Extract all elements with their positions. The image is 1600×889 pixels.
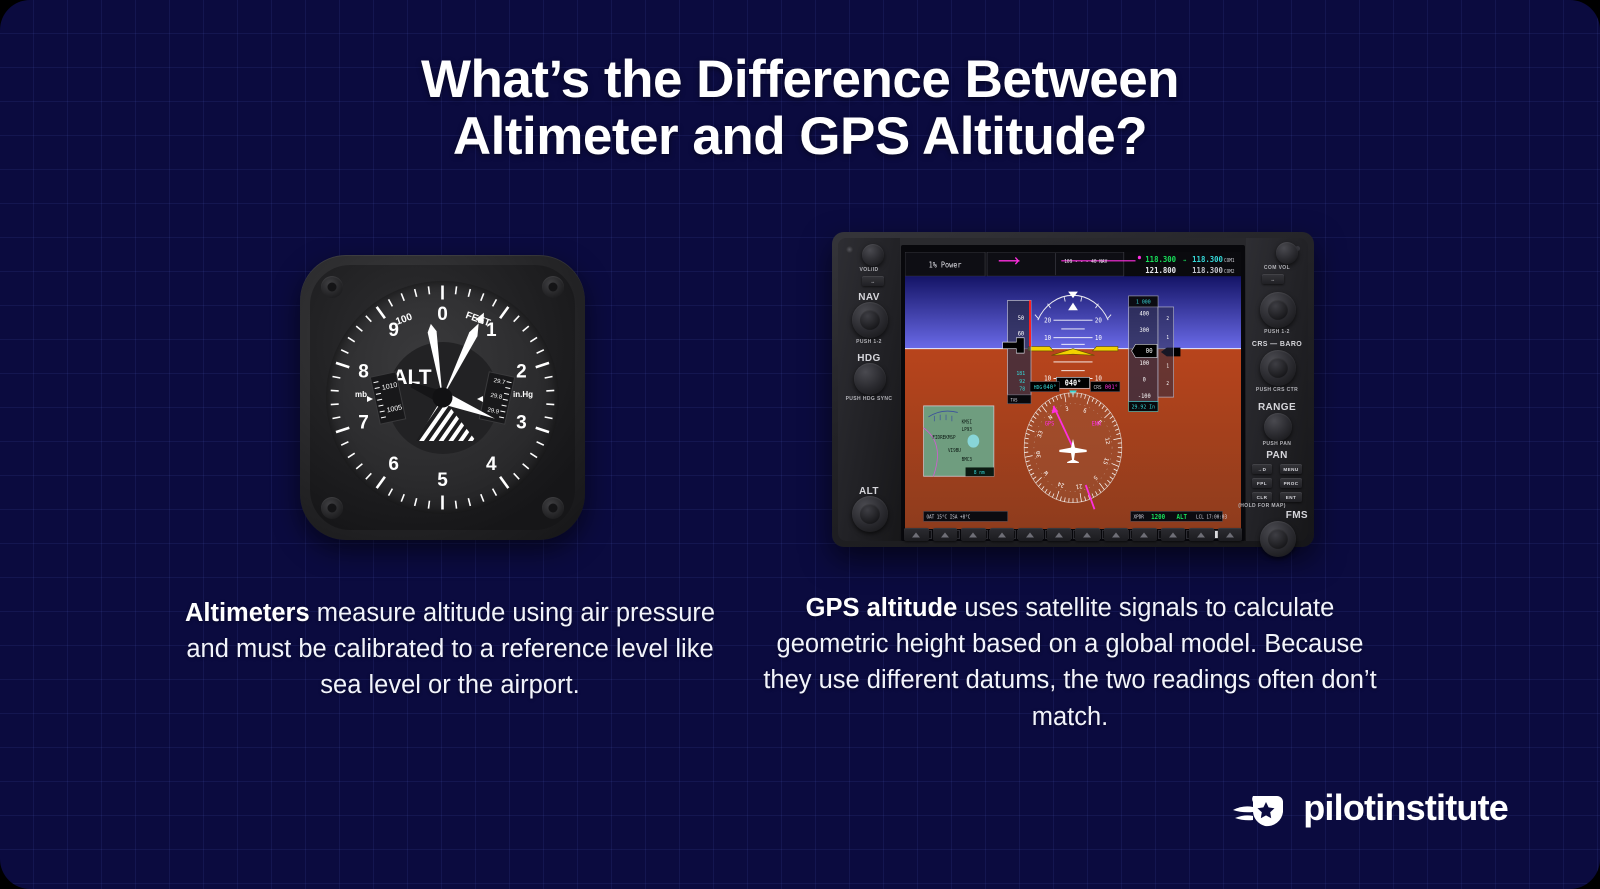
dial-minor-tick <box>530 453 537 457</box>
alt-tick-400: 400 <box>1139 312 1149 318</box>
compass-label-12: 12 <box>1103 437 1110 445</box>
dial-minor-tick <box>332 377 340 378</box>
crs-label: CRS <box>1094 385 1102 391</box>
caption-altimeter: Altimeters measure altitude using air pr… <box>180 595 720 704</box>
softkey-button[interactable] <box>933 528 958 541</box>
dial-number-3: 3 <box>516 413 527 434</box>
crs-baro-knob[interactable] <box>1260 350 1296 386</box>
garmin-display: GARMIN 1% Power 109 - - - 40 NAV 11 <box>901 245 1245 541</box>
clr-button[interactable]: CLR <box>1252 492 1272 502</box>
dial-number-8: 8 <box>358 361 369 382</box>
alt-tick-100: 100 <box>1139 361 1149 367</box>
dial-minor-tick <box>415 498 417 506</box>
nav-push-label: PUSH 1-2 <box>838 340 900 346</box>
oat-readout: OAT 15°C ISA +8°C <box>926 514 970 520</box>
dial-major-tick <box>500 307 508 318</box>
dial-minor-tick <box>546 404 554 405</box>
dial-number-6: 6 <box>388 454 399 475</box>
vsi-tick-1dn: 1 <box>1166 363 1169 369</box>
range-label: RANGE <box>1246 402 1308 413</box>
com1-tag: COM1 <box>1224 258 1235 264</box>
dial-minor-tick <box>530 337 537 341</box>
direct-to-icon[interactable]: →D <box>1252 464 1272 474</box>
frequency-swap-icon[interactable]: ↔ <box>862 276 884 286</box>
frequency-swap-icon[interactable]: ↔ <box>1262 274 1284 284</box>
softkey-button[interactable] <box>1218 528 1243 541</box>
dial-minor-tick <box>389 299 393 306</box>
dial-minor-tick <box>331 404 339 405</box>
proc-button[interactable]: PROC <box>1280 478 1302 488</box>
dial-minor-tick <box>428 501 429 509</box>
altimeter-dial-graphics: 0123456789 ALT 100 <box>326 281 559 514</box>
com-knob[interactable] <box>1260 292 1296 328</box>
dial-minor-tick <box>366 316 371 322</box>
altitude-readout: 00 <box>1146 348 1153 355</box>
dial-minor-tick <box>456 286 457 294</box>
pitch-10-left: 10 <box>1044 335 1051 342</box>
menu-button[interactable]: MENU <box>1280 464 1302 474</box>
dial-minor-tick <box>348 453 355 457</box>
inhg-pointer-icon <box>477 396 483 402</box>
power-readout: 1% Power <box>929 260 962 270</box>
mb-label: mb <box>355 390 367 399</box>
altitude-readout-box <box>1132 344 1157 357</box>
dial-minor-tick <box>537 442 544 445</box>
dial-number-0: 0 <box>437 304 448 325</box>
altimeter-dial-face: 0123456789 ALT 100 <box>326 281 559 514</box>
vsi-tick-2dn: 2 <box>1166 381 1169 387</box>
map-label-1: LP93 <box>962 427 973 433</box>
baro-setting: 29.92 In <box>1132 404 1155 410</box>
infographic-canvas: What’s the Difference Between Altimeter … <box>0 0 1600 889</box>
map-label-4: BMC3 <box>962 457 973 463</box>
needle-hub <box>433 388 453 408</box>
dial-minor-tick <box>428 286 429 294</box>
logo-wordmark: pilotinstitute <box>1303 787 1508 829</box>
ent-button[interactable]: ENT <box>1280 492 1302 502</box>
map-range: 8 nm <box>974 470 985 476</box>
dial-minor-tick <box>415 289 417 297</box>
softkey-button[interactable] <box>961 528 986 541</box>
caption-gps: GPS altitude uses satellite signals to c… <box>760 590 1380 735</box>
hdg-bug-label: HDG <box>1034 385 1042 391</box>
clr-sub-label: (HOLD FOR MAP) <box>1234 504 1290 510</box>
pitch-10-right: 10 <box>1095 335 1102 342</box>
dial-number-5: 5 <box>437 470 448 491</box>
dial-minor-tick <box>537 350 544 353</box>
inset-map: KMSI LP93 FIDREKMSP VI9BU BMC3 8 nm <box>924 406 994 476</box>
dial-minor-tick <box>341 442 348 445</box>
title-line-2: Altimeter and GPS Altitude? <box>0 109 1600 166</box>
dial-minor-tick <box>348 337 355 341</box>
selected-altitude: 1 000 <box>1136 299 1151 305</box>
dial-minor-tick <box>468 289 470 297</box>
dial-minor-tick <box>523 464 529 469</box>
hdg-push-label: PUSH HDG SYNC <box>838 397 900 403</box>
nav-source-annunciator: GPS <box>1045 421 1055 427</box>
speed-readout-3: 78 <box>1019 386 1025 392</box>
winged-star-icon <box>1233 788 1291 828</box>
altimeter-hundreds-label: 100 <box>394 311 414 327</box>
xpdr-label: XPDR <box>1134 514 1145 520</box>
pitch-20-right: 20 <box>1095 317 1102 324</box>
softkey-button[interactable] <box>1161 528 1186 541</box>
caption-left-bold: Altimeters <box>185 599 310 627</box>
dial-major-tick <box>536 363 549 367</box>
nav-knob[interactable] <box>852 302 888 338</box>
dial-minor-tick <box>341 350 348 353</box>
map-label-0: KMSI <box>962 419 973 425</box>
dial-major-tick <box>500 477 508 488</box>
inhg-subdial: 29.7 29.8 29.9 <box>479 372 514 424</box>
softkey-button-row[interactable] <box>898 525 1248 545</box>
garmin-right-bezel: COM VOL ↔ PUSH 1-2 CRS — BARO PUSH CRS C… <box>1246 238 1308 541</box>
crs-push-label: PUSH CRS CTR <box>1246 388 1308 394</box>
range-pan-joystick[interactable] <box>1264 413 1292 441</box>
svg-text:↔: ↔ <box>1183 258 1186 264</box>
dial-minor-tick <box>481 494 484 501</box>
dial-number-7: 7 <box>358 413 369 434</box>
dial-major-tick <box>377 477 385 488</box>
dial-minor-tick <box>481 293 484 300</box>
map-label-2: FIDREKMSP <box>932 435 955 441</box>
dial-major-tick <box>336 363 349 367</box>
crs-value: 001° <box>1105 385 1118 391</box>
alt-tick-0: 0 <box>1143 377 1147 383</box>
softkey-button[interactable] <box>1018 528 1043 541</box>
dial-minor-tick <box>545 377 553 378</box>
xpdr-code: 1200 <box>1151 514 1165 521</box>
dial-minor-tick <box>356 464 362 469</box>
dial-major-tick <box>336 428 349 432</box>
map-label-3: VI9BU <box>948 448 961 454</box>
dial-number-2: 2 <box>516 361 527 382</box>
vol-id-knob[interactable] <box>862 244 884 266</box>
airspeed-tick-50: 50 <box>1018 316 1025 322</box>
dial-minor-tick <box>389 489 393 496</box>
speed-readout-2: 92 <box>1019 379 1025 385</box>
vertical-speed-indicator: 2 1 1 2 <box>1158 307 1174 397</box>
crs-baro-label: CRS — BARO <box>1246 341 1308 348</box>
altimeter-instrument: 0123456789 ALT 100 <box>300 255 585 540</box>
softkey-button[interactable] <box>1189 528 1214 541</box>
softkey-button[interactable] <box>990 528 1015 541</box>
dial-minor-tick <box>366 473 371 479</box>
dial-minor-tick <box>493 299 497 306</box>
garmin-left-bezel: VOL/ID ↔ NAV PUSH 1-2 HDG PUSH HDG SYNC … <box>838 238 900 541</box>
dial-minor-tick <box>468 498 470 506</box>
com1-standby: 118.300 <box>1192 254 1223 264</box>
dial-major-tick <box>377 307 385 318</box>
alt-tick-300: 300 <box>1139 328 1149 334</box>
inhg-label: in.Hg <box>513 390 533 399</box>
phase-annunciator: ENR <box>1092 421 1102 427</box>
vol-id-label: VOL/ID <box>838 268 900 274</box>
dial-minor-tick <box>514 316 519 322</box>
caption-right-bold: GPS altitude <box>806 594 958 622</box>
airspeed-tick-60: 60 <box>1018 331 1025 337</box>
softkey-button[interactable] <box>904 528 929 541</box>
softkey-button[interactable] <box>1132 528 1157 541</box>
alt-knob[interactable] <box>852 496 888 532</box>
primary-flight-display: 1% Power 109 - - - 40 NAV 118.300 ↔ 118.… <box>905 252 1241 529</box>
dial-minor-tick <box>546 390 554 391</box>
softkey-button[interactable] <box>1104 528 1129 541</box>
dial-minor-tick <box>331 390 339 391</box>
com-vol-label: COM VOL <box>1246 266 1308 272</box>
com2-standby: 118.300 <box>1192 265 1223 275</box>
dial-minor-tick <box>456 501 457 509</box>
page-title: What’s the Difference Between Altimeter … <box>0 52 1600 165</box>
tas-label: TAS <box>1010 397 1018 402</box>
fms-label: FMS <box>1256 510 1308 521</box>
speed-readout-1: 181 <box>1016 371 1025 377</box>
vsi-tick-1up: 1 <box>1166 335 1169 341</box>
xpdr-mode: ALT <box>1177 514 1188 521</box>
com2-tag: COM2 <box>1224 269 1235 275</box>
pan-label: PAN <box>1246 450 1308 461</box>
title-line-1: What’s the Difference Between <box>0 52 1600 109</box>
softkey-button[interactable] <box>1075 528 1100 541</box>
hdg-bug-value: 040° <box>1043 385 1056 391</box>
alt-tick-m100: -100 <box>1138 394 1151 400</box>
fms-knob[interactable] <box>1260 521 1296 557</box>
com2-active: 121.800 <box>1145 265 1176 275</box>
dial-major-tick <box>536 428 549 432</box>
pitch-20-left: 20 <box>1044 317 1051 324</box>
softkey-button[interactable] <box>1047 528 1072 541</box>
dial-minor-tick <box>332 417 340 418</box>
dial-minor-tick <box>401 293 404 300</box>
dial-minor-tick <box>523 326 529 331</box>
nav-ident-readout: 109 - - - 40 NAV <box>1064 259 1107 265</box>
dial-number-4: 4 <box>486 454 497 475</box>
dial-minor-tick <box>356 326 362 331</box>
garmin-pfd-unit: VOL/ID ↔ NAV PUSH 1-2 HDG PUSH HDG SYNC … <box>832 232 1314 547</box>
fpl-button[interactable]: FPL <box>1252 478 1272 488</box>
pan-push-label: PUSH PAN <box>1246 442 1308 448</box>
vsi-tick-2up: 2 <box>1166 316 1169 322</box>
com-vol-knob[interactable] <box>1276 242 1298 264</box>
dial-minor-tick <box>545 417 553 418</box>
com-push-label: PUSH 1-2 <box>1246 330 1308 336</box>
local-time: LCL 17:00:03 <box>1196 514 1227 520</box>
dial-minor-tick <box>401 494 404 501</box>
mb-pointer-icon <box>367 396 373 402</box>
heading-readout: 040° <box>1065 378 1081 388</box>
brand-logo: pilotinstitute <box>1233 787 1508 829</box>
dial-minor-tick <box>514 473 519 479</box>
com1-active: 118.300 <box>1145 254 1176 264</box>
dial-minor-tick <box>493 489 497 496</box>
photocell-icon <box>846 246 853 253</box>
hdg-knob[interactable] <box>854 363 886 395</box>
